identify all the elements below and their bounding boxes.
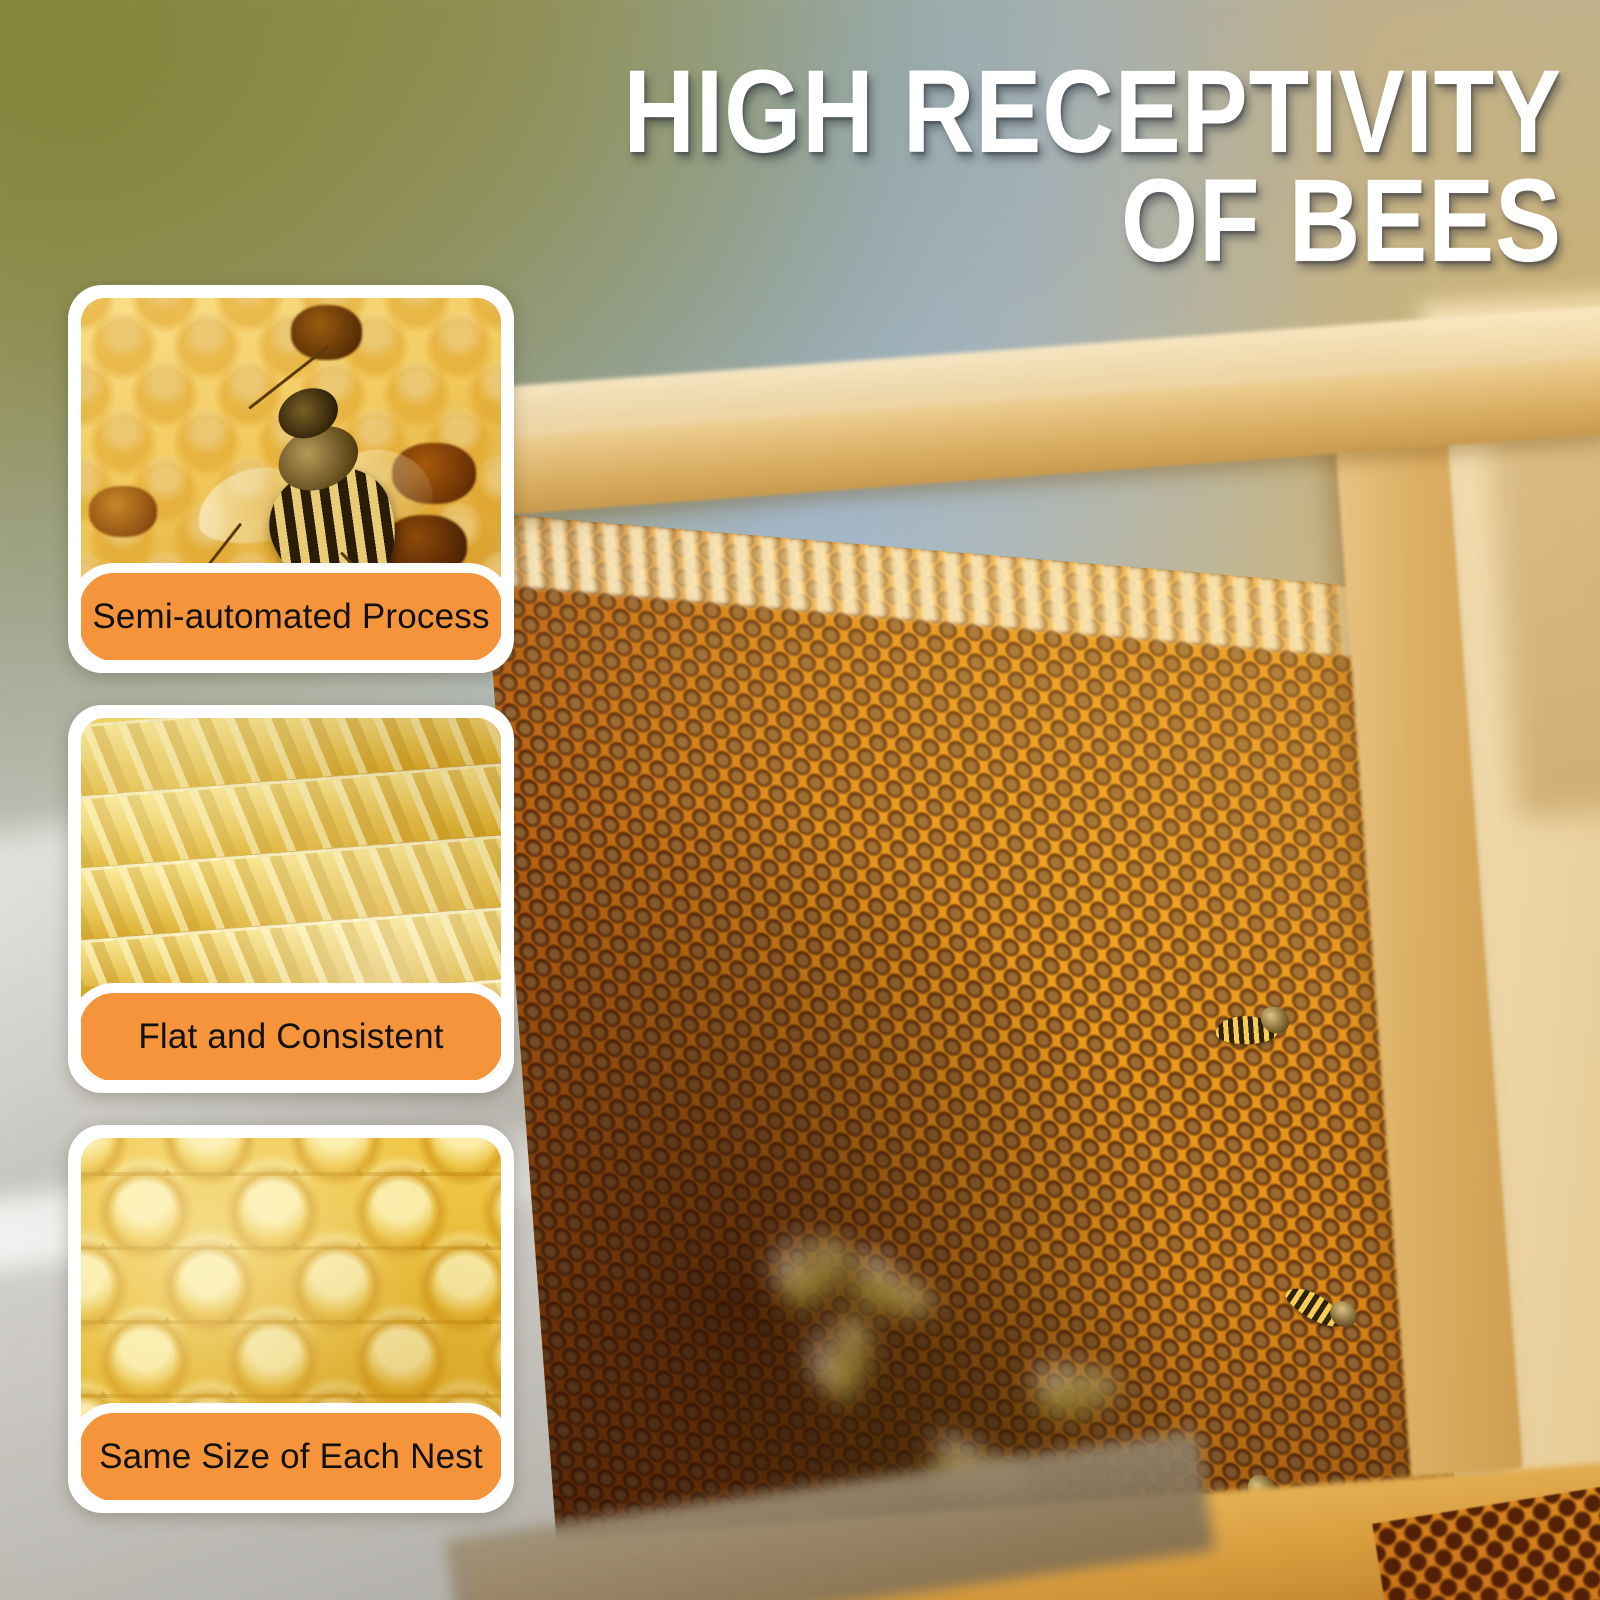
- card-label-pill: Same Size of Each Nest: [81, 1403, 501, 1500]
- card-label-pill: Semi-automated Process: [81, 563, 501, 660]
- card-photo-wax-sheets: Flat and Consistent: [81, 718, 501, 1080]
- feature-card-list: Semi-automated Process Flat and Consiste…: [68, 285, 514, 1545]
- card-label-text: Flat and Consistent: [138, 1017, 443, 1057]
- poster-canvas: HIGH RECEPTIVITY OF BEES: [0, 0, 1600, 1600]
- card-label-pill: Flat and Consistent: [81, 983, 501, 1080]
- feature-card-flat-and-consistent[interactable]: Flat and Consistent: [68, 705, 514, 1093]
- hive-frame: [423, 287, 1600, 1600]
- feature-card-semi-automated-process[interactable]: Semi-automated Process: [68, 285, 514, 673]
- honeycomb-face: [481, 513, 1475, 1600]
- card-label-text: Semi-automated Process: [92, 597, 489, 637]
- feature-card-same-size-of-each-nest[interactable]: Same Size of Each Nest: [68, 1125, 514, 1513]
- card-photo-honeycomb-with-bee: Semi-automated Process: [81, 298, 501, 660]
- card-label-text: Same Size of Each Nest: [99, 1437, 483, 1477]
- card-photo-macro-foundation: Same Size of Each Nest: [81, 1138, 501, 1500]
